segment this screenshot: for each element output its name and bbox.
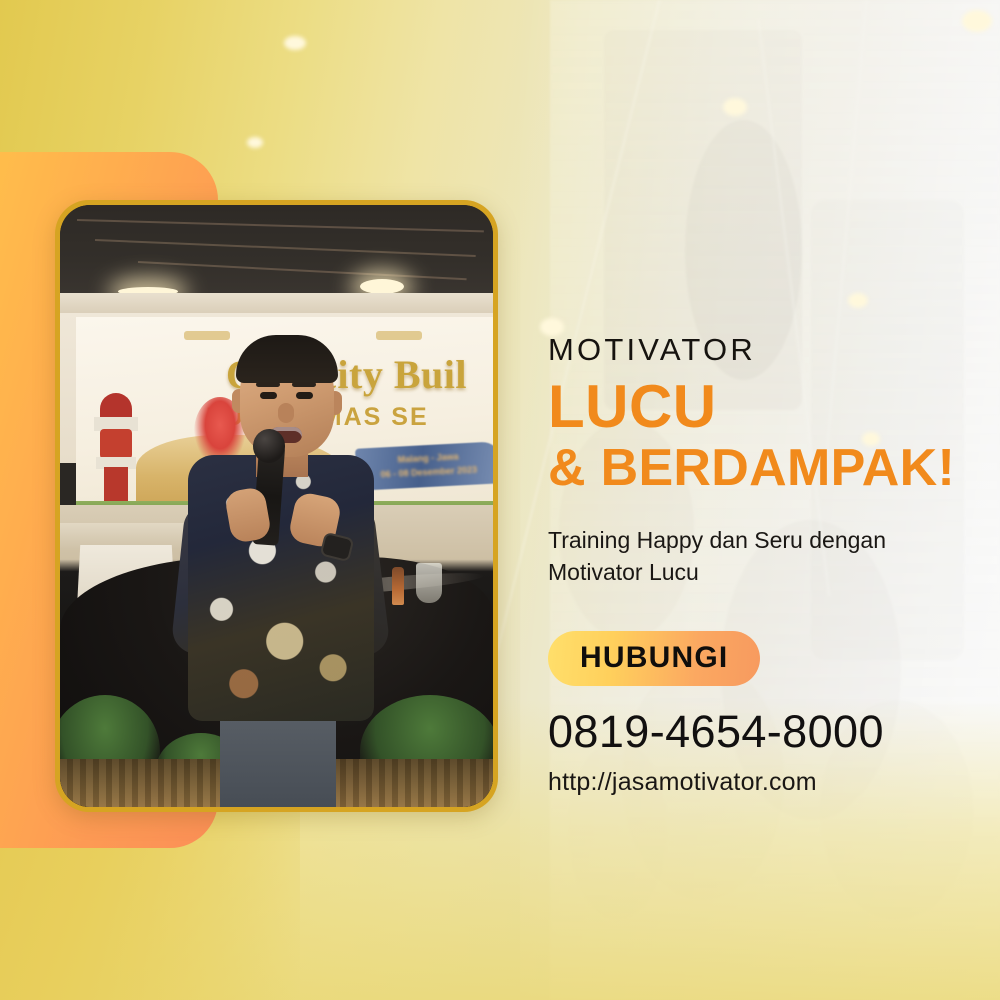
contact-cta-button[interactable]: HUBUNGI (548, 631, 760, 686)
poster-content: MOTIVATOR LUCU & BERDAMPAK! Training Hap… (548, 334, 968, 797)
website-url[interactable]: http://jasamotivator.com (548, 767, 968, 797)
bokeh-light (247, 137, 263, 148)
banner-date-ribbon: Malang - Jawa 06 - 08 Desember 2023 (355, 441, 493, 491)
headline-primary: LUCU (548, 375, 968, 439)
photo-ceiling (60, 205, 493, 297)
speaker-eyebrow (292, 382, 316, 387)
speaker-eye (296, 392, 313, 399)
photo-bottle (392, 567, 404, 605)
bokeh-light (962, 10, 992, 32)
ceiling-line (95, 239, 476, 257)
sub-copy: Training Happy dan Seru dengan Motivator… (548, 524, 963, 589)
bokeh-light (284, 36, 306, 50)
photo-glass (416, 563, 442, 603)
ceiling-downlight (360, 279, 404, 294)
banner-logo (376, 331, 422, 340)
phone-number[interactable]: 0819-4654-8000 (548, 708, 968, 755)
speaker-eye (260, 392, 277, 399)
speaker-nose (278, 403, 294, 423)
ceiling-line (138, 261, 467, 280)
speaker-photo: Capacity Buil PUSKESMAS SE Malang - Jawa… (60, 205, 493, 807)
speaker-eyebrow (256, 382, 280, 387)
headline-secondary: & BERDAMPAK! (548, 441, 968, 496)
eyebrow-text: MOTIVATOR (548, 334, 968, 365)
speaker-photo-card: Capacity Buil PUSKESMAS SE Malang - Jawa… (55, 200, 498, 812)
bokeh-light (723, 98, 747, 116)
ceiling-line (77, 219, 484, 232)
banner-logo (184, 331, 230, 340)
bokeh-light (848, 293, 868, 308)
promo-poster: Capacity Buil PUSKESMAS SE Malang - Jawa… (0, 0, 1000, 1000)
banner-date-text: Malang - Jawa 06 - 08 Desember 2023 (355, 447, 493, 483)
photo-soffit (60, 293, 493, 315)
